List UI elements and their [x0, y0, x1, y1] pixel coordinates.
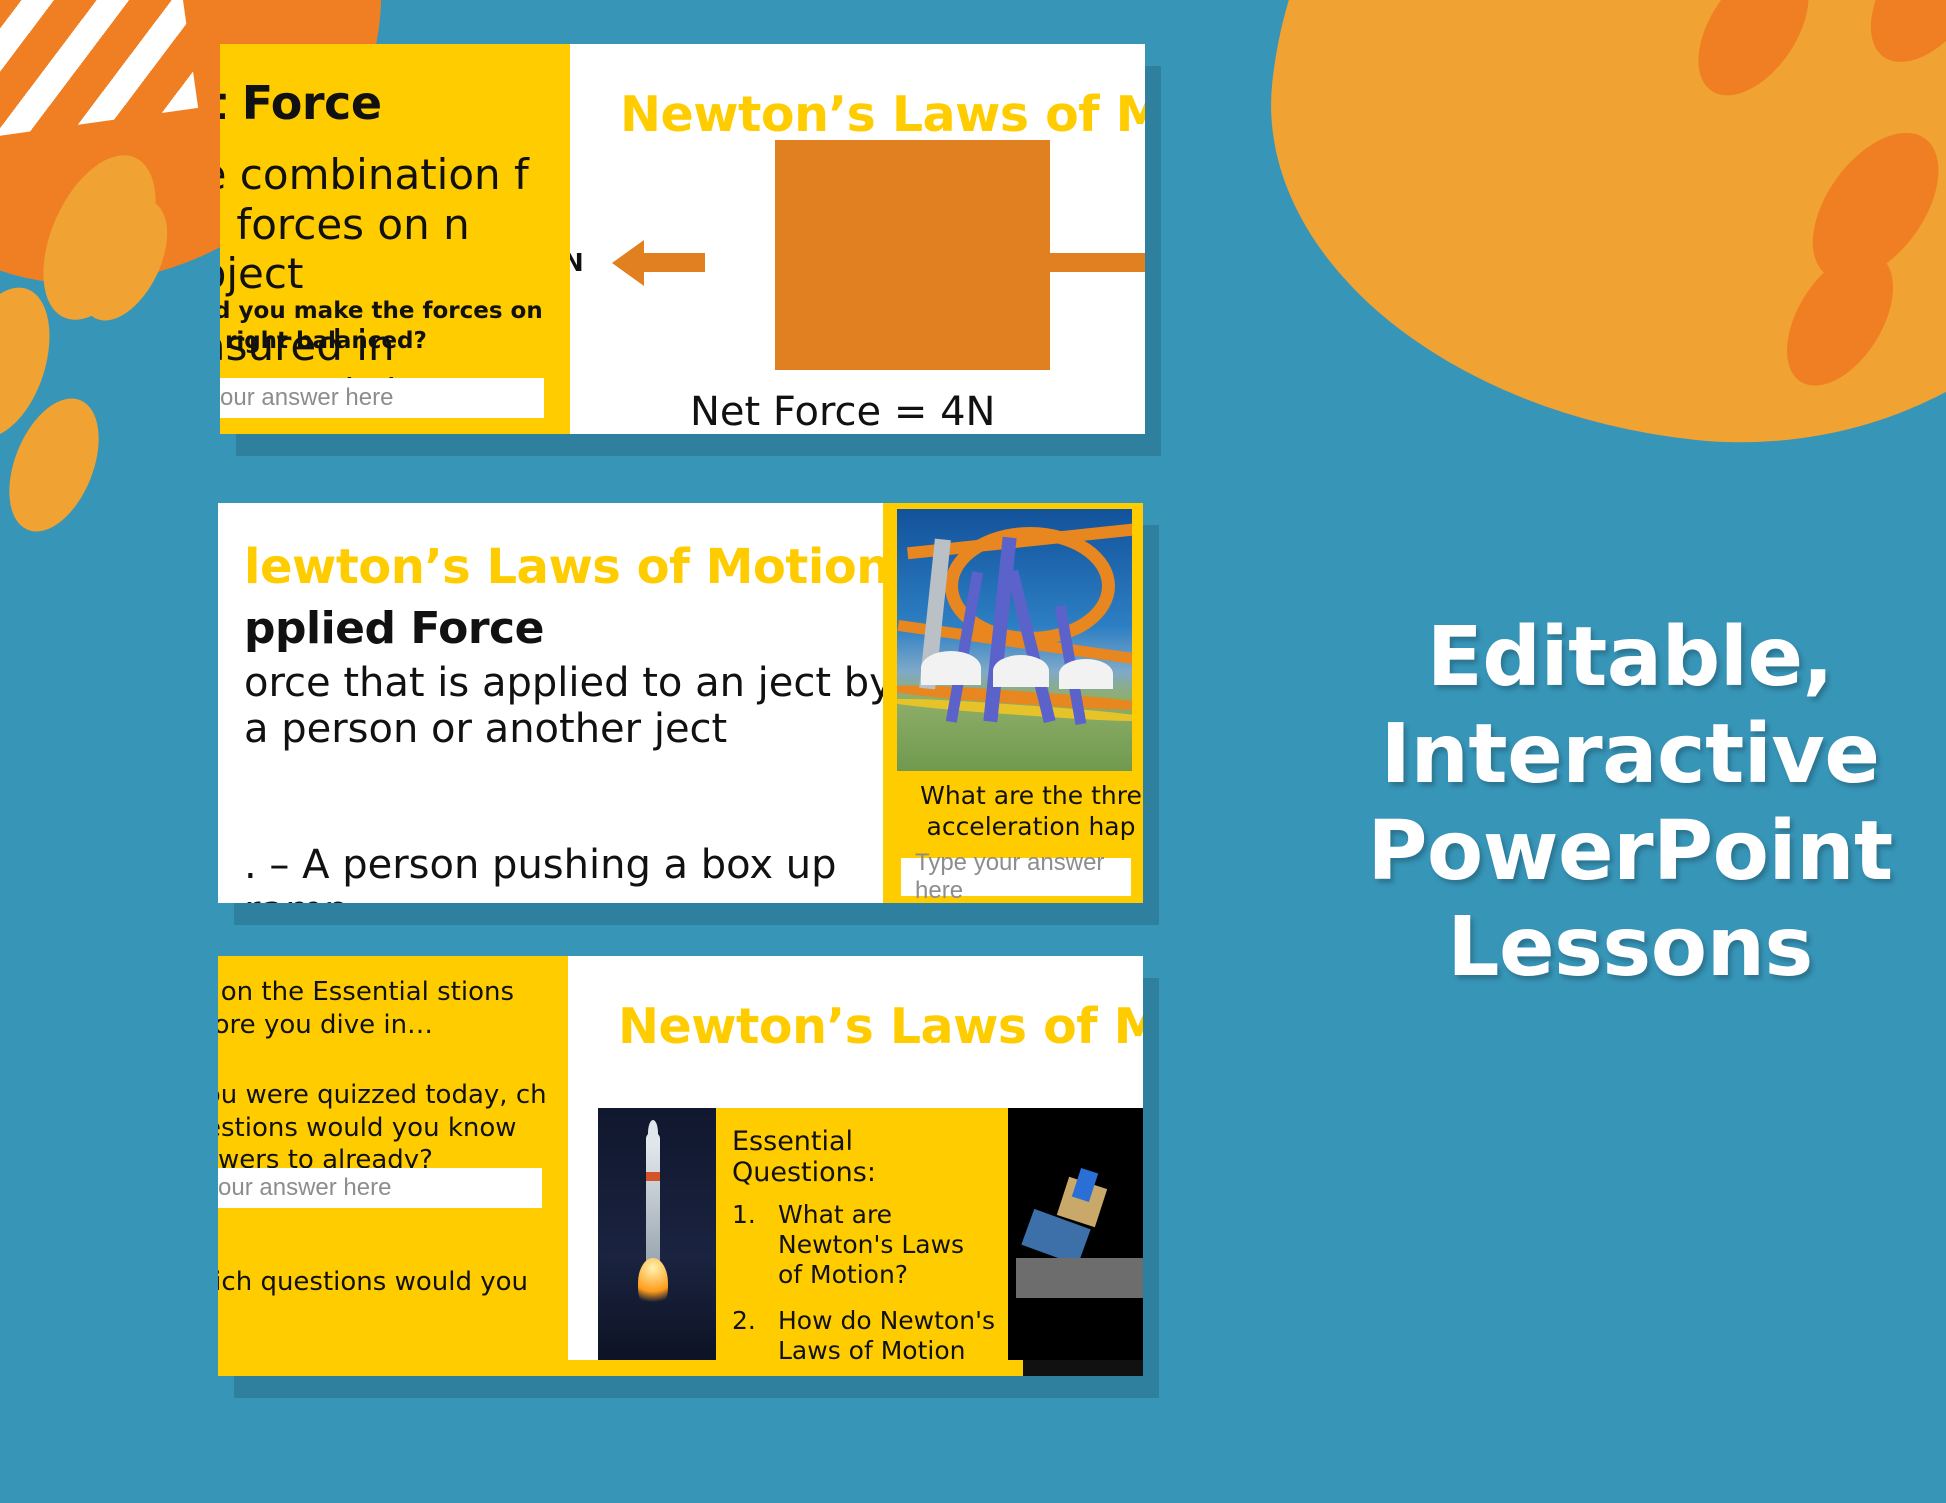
park-tent-2: [993, 655, 1049, 687]
slide2-image-caption: What are the thre acceleration hap: [897, 781, 1143, 842]
slide-applied-force[interactable]: lewton’s Laws of Motion pplied Force orc…: [218, 503, 1143, 903]
slide2-examples: . – A person pushing a box up ramp . – A…: [244, 843, 944, 903]
slide1-bullet-1: he combination f all forces on n object: [220, 150, 554, 299]
slide3-question-2: Which questions would you: [218, 1266, 572, 1299]
net-force-result: Net Force = 4N: [690, 389, 995, 434]
slide1-question: ould you make the forces on the right ba…: [220, 297, 574, 356]
essential-questions-panel: Essential Questions: 1. What are Newton'…: [716, 1108, 1008, 1376]
promo-line-3: PowerPoint: [1330, 804, 1930, 901]
diagonal-stripe-pattern: [0, 0, 198, 166]
park-tent-3: [1059, 659, 1113, 689]
rocket-launch-photo: [598, 1108, 716, 1376]
slide2-answer-input[interactable]: Type your answer here: [901, 858, 1131, 896]
decor-speck: [1676, 0, 1831, 115]
slide3-question-1: f you were quizzed today, ch questions w…: [218, 1079, 556, 1177]
promo-headline: Editable, Interactive PowerPoint Lessons: [1330, 610, 1930, 997]
essential-questions-list: 1. What are Newton's Laws of Motion? 2. …: [732, 1200, 996, 1376]
slide-net-force[interactable]: Newton’s Laws of Mo 14N Net Force = 4N e…: [220, 44, 1145, 434]
slide1-answer-input[interactable]: e your answer here: [220, 378, 544, 418]
rocket-stripe: [646, 1172, 660, 1181]
slide1-yellow-panel: et Force he combination f all forces on …: [220, 44, 570, 434]
promo-line-1: Editable,: [1330, 610, 1930, 707]
lunar-surface: [1016, 1258, 1143, 1298]
essential-questions-block: Essential Questions: 1. What are Newton'…: [598, 1108, 1143, 1376]
slide3-intro: ect on the Essential stions before you d…: [218, 976, 556, 1041]
slide3-yellow-panel: ect on the Essential stions before you d…: [218, 956, 568, 1376]
item-number: 1.: [732, 1200, 778, 1290]
roller-coaster-photo: [897, 509, 1132, 771]
slide1-title: Newton’s Laws of Mo: [620, 86, 1145, 143]
slide2-example-1: . – A person pushing a box up ramp: [244, 843, 944, 903]
arrow-shaft: [640, 253, 705, 272]
ribbon-segment-black: [1023, 1360, 1143, 1376]
list-item: 1. What are Newton's Laws of Motion?: [732, 1200, 996, 1290]
top-right-orange-blob: [1240, 0, 1946, 484]
decor-speck: [1847, 0, 1946, 83]
slide2-yellow-panel: What are the thre acceleration hap Type …: [883, 503, 1143, 903]
right-force-arrow: [1050, 253, 1145, 272]
slide2-title: lewton’s Laws of Motion: [244, 539, 890, 595]
rocket-body: [646, 1132, 660, 1262]
slide2-body: orce that is applied to an ject by a per…: [244, 661, 904, 752]
force-object-box: [775, 140, 1050, 370]
park-tent-1: [921, 651, 981, 685]
promo-line-4: Lessons: [1330, 900, 1930, 997]
essential-questions-heading: Essential Questions:: [732, 1126, 996, 1188]
rocket-nose: [648, 1120, 658, 1146]
slide-essential-questions[interactable]: Newton’s Laws of Mo Essential Questions:…: [218, 956, 1143, 1376]
slide2-subheading: pplied Force: [244, 603, 544, 654]
slide3-answer-input[interactable]: e your answer here: [218, 1168, 542, 1208]
rocket-flame: [638, 1258, 668, 1308]
slide3-title: Newton’s Laws of Mo: [618, 998, 1143, 1055]
item-text: What are Newton's Laws of Motion?: [778, 1200, 996, 1290]
satellite-photo: [1008, 1108, 1143, 1376]
slide1-panel-heading: et Force: [220, 76, 554, 130]
promo-line-2: Interactive: [1330, 707, 1930, 804]
